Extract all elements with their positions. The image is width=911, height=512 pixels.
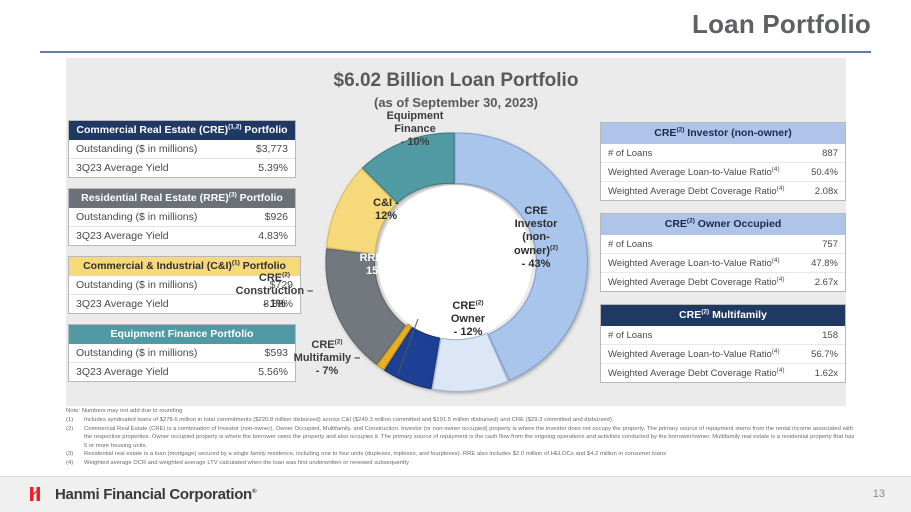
footnote-number: (1) (66, 416, 84, 425)
row-label-text: Weighted Average Loan-to-Value Ratio (608, 167, 772, 178)
page-header: Loan Portfolio (0, 0, 911, 54)
row-label-footnote: (4) (777, 184, 785, 191)
loan-portfolio-donut-chart: Equipment Finance - 10% C&I - 12% RRE(3)… (305, 112, 605, 412)
footnotes: Note: Numbers may not add due to roundin… (66, 407, 856, 467)
cre-investor-table-header: CRE(2) Investor (non-owner) (601, 123, 845, 144)
cre-owner-occupied-table: CRE(2) Owner Occupied # of Loans 757 Wei… (600, 213, 846, 292)
equipment-finance-header-main: Equipment Finance Portfolio (111, 328, 254, 340)
cre-portfolio-table: Commercial Real Estate (CRE)(1,2) Portfo… (68, 120, 296, 178)
row-label: # of Loans (608, 148, 652, 159)
row-label-footnote: (4) (772, 256, 780, 263)
row-label: 3Q23 Average Yield (76, 366, 169, 378)
table-row: Weighted Average Debt Coverage Ratio(4) … (601, 363, 845, 382)
row-label: Weighted Average Debt Coverage Ratio(4) (608, 186, 785, 197)
table-row: 3Q23 Average Yield 5.56% (69, 362, 295, 381)
cre-multifamily-table-header: CRE(2) Multifamily (601, 305, 845, 326)
table-row: Weighted Average Debt Coverage Ratio(4) … (601, 181, 845, 200)
chart-label-cre-construction: CRE(2) Construction – - 1% (212, 272, 337, 312)
table-row: # of Loans 158 (601, 326, 845, 344)
row-label: # of Loans (608, 330, 652, 341)
row-label: 3Q23 Average Yield (76, 230, 169, 242)
table-row: 3Q23 Average Yield 5.39% (69, 158, 295, 177)
row-value: 2.08x (815, 186, 838, 197)
row-label-text: # of Loans (608, 239, 652, 250)
cre-investor-header-tail: Investor (non-owner) (684, 127, 791, 139)
row-value: 47.8% (811, 258, 838, 269)
row-label-footnote: (4) (777, 275, 785, 282)
owner-label-line1: CRE (452, 300, 475, 312)
ci-portfolio-header-main: Commercial & Industrial (C&I) (83, 260, 232, 272)
investor-label-line1: CRE (524, 205, 547, 217)
construction-label-line2: Construction (236, 285, 304, 297)
row-value: 4.83% (258, 230, 288, 242)
row-label-text: Weighted Average Debt Coverage Ratio (608, 277, 777, 288)
row-value: 5.39% (258, 162, 288, 174)
right-metrics-column: CRE(2) Investor (non-owner) # of Loans 8… (600, 122, 846, 395)
footnote-note: Note: Numbers may not add due to roundin… (66, 407, 856, 416)
panel-title: $6.02 Billion Loan Portfolio (66, 70, 846, 92)
investor-label-footnote: (2) (550, 244, 558, 251)
row-label-text: # of Loans (608, 148, 652, 159)
multifamily-label-pct: - 7% (316, 365, 339, 377)
equipment-finance-portfolio-table: Equipment Finance Portfolio Outstanding … (68, 324, 296, 382)
rre-portfolio-header-tail: Portfolio (237, 192, 283, 204)
table-row: Weighted Average Loan-to-Value Ratio(4) … (601, 253, 845, 272)
table-row: Weighted Average Loan-to-Value Ratio(4) … (601, 162, 845, 181)
investor-label-line2: Investor (515, 218, 558, 230)
table-row: # of Loans 757 (601, 235, 845, 253)
row-label: Weighted Average Loan-to-Value Ratio(4) (608, 258, 780, 269)
footnote-item: (2) Commercial Real Estate (CRE) is a co… (66, 425, 856, 451)
row-label-footnote: (4) (772, 347, 780, 354)
row-value: 2.67x (815, 277, 838, 288)
registered-trademark-icon: ® (252, 488, 257, 495)
footnote-item: (4) Weighted average DCR and weighted av… (66, 459, 856, 468)
rre-label-dash: - (391, 252, 395, 264)
table-row: Outstanding ($ in millions) $593 (69, 344, 295, 362)
panel-subtitle: (as of September 30, 2023) (66, 95, 846, 110)
row-value: $3,773 (256, 143, 288, 155)
footnote-item: (1) Includes syndicated loans of $278.6 … (66, 416, 856, 425)
table-row: Outstanding ($ in millions) $3,773 (69, 140, 295, 158)
row-value: $926 (265, 211, 288, 223)
footnote-text: Commercial Real Estate (CRE) is a combin… (84, 425, 856, 451)
cre-owner-header-main: CRE (665, 218, 687, 230)
cre-portfolio-header-main: Commercial Real Estate (CRE) (76, 124, 228, 136)
row-label: Outstanding ($ in millions) (76, 143, 197, 155)
rre-label-line1: RRE (360, 252, 383, 264)
left-metrics-column: Commercial Real Estate (CRE)(1,2) Portfo… (68, 120, 296, 392)
investor-label-pct: - 43% (522, 258, 551, 270)
table-row: Weighted Average Loan-to-Value Ratio(4) … (601, 344, 845, 363)
row-label: Outstanding ($ in millions) (76, 211, 197, 223)
row-label: Weighted Average Loan-to-Value Ratio(4) (608, 167, 780, 178)
cre-investor-header-main: CRE (654, 127, 676, 139)
row-label-text: # of Loans (608, 330, 652, 341)
cre-portfolio-header-tail: Portfolio (242, 124, 288, 136)
footnote-text: Includes syndicated loans of $278.6 mill… (84, 416, 856, 425)
row-label-footnote: (4) (772, 165, 780, 172)
cre-owner-header-tail: Owner Occupied (695, 218, 781, 230)
multifamily-label-footnote: (2) (335, 338, 343, 345)
ci-label-line1: C&I - (373, 197, 399, 209)
row-value: 887 (822, 148, 838, 159)
row-value: 1.62x (815, 368, 838, 379)
page-footer: Hanmi Financial Corporation® 13 (0, 476, 911, 512)
rre-label-footnote: (3) (383, 251, 391, 258)
equipment-finance-label-line2: Finance (394, 123, 436, 135)
footnote-text: Weighted average DCR and weighted averag… (84, 459, 856, 468)
page-number: 13 (873, 488, 885, 500)
chart-label-ci: C&I - 12% (353, 197, 419, 223)
rre-portfolio-header-main: Residential Real Estate (RRE) (81, 192, 229, 204)
equipment-finance-label-pct: - 10% (401, 136, 430, 148)
row-label-text: Weighted Average Debt Coverage Ratio (608, 186, 777, 197)
ci-label-pct: 12% (375, 210, 397, 222)
cre-portfolio-header-footnote: (1,2) (228, 124, 241, 131)
header-divider (40, 51, 871, 53)
ci-portfolio-header-footnote: (1) (232, 260, 240, 267)
equipment-finance-table-header: Equipment Finance Portfolio (69, 325, 295, 344)
row-label: Weighted Average Loan-to-Value Ratio(4) (608, 349, 780, 360)
row-label: Weighted Average Debt Coverage Ratio(4) (608, 368, 785, 379)
table-row: Weighted Average Debt Coverage Ratio(4) … (601, 272, 845, 291)
construction-label-line1: CRE (259, 272, 282, 284)
company-name: Hanmi Financial Corporation® (55, 486, 256, 503)
footnote-number: (4) (66, 459, 84, 468)
owner-label-pct: - 12% (454, 326, 483, 338)
footnote-number: (2) (66, 425, 84, 451)
footnote-number: (3) (66, 450, 84, 459)
cre-multifamily-header-tail: Multifamily (709, 309, 767, 321)
row-label-text: Weighted Average Loan-to-Value Ratio (608, 258, 772, 269)
table-row: Outstanding ($ in millions) $926 (69, 208, 295, 226)
company-logo: Hanmi Financial Corporation® (28, 484, 256, 504)
table-row: # of Loans 887 (601, 144, 845, 162)
rre-portfolio-header-footnote: (3) (229, 192, 237, 199)
owner-label-footnote: (2) (476, 299, 484, 306)
equipment-finance-label-line1: Equipment (387, 110, 444, 122)
chart-label-cre-investor: CRE Investor (non- owner)(2) - 43% (495, 205, 577, 271)
footnote-item: (3) Residential real estate is a loan (m… (66, 450, 856, 459)
cre-multifamily-table: CRE(2) Multifamily # of Loans 158 Weight… (600, 304, 846, 383)
investor-label-line4: owner) (514, 245, 550, 257)
row-label: # of Loans (608, 239, 652, 250)
row-label: 3Q23 Average Yield (76, 162, 169, 174)
rre-portfolio-table: Residential Real Estate (RRE)(3) Portfol… (68, 188, 296, 246)
row-label: Weighted Average Debt Coverage Ratio(4) (608, 277, 785, 288)
row-value: 757 (822, 239, 838, 250)
row-label-footnote: (4) (777, 366, 785, 373)
cre-multifamily-header-main: CRE (679, 309, 701, 321)
company-name-text: Hanmi Financial Corporation (55, 486, 252, 503)
row-label-text: Weighted Average Loan-to-Value Ratio (608, 349, 772, 360)
footnote-text: Residential real estate is a loan (mortg… (84, 450, 856, 459)
page-title: Loan Portfolio (692, 9, 871, 40)
table-row: 3Q23 Average Yield 4.83% (69, 226, 295, 245)
cre-owner-header-footnote: (2) (687, 218, 695, 225)
row-label: 3Q23 Average Yield (76, 298, 169, 310)
chart-label-cre-multifamily: CRE(2) Multifamily – - 7% (267, 339, 387, 379)
multifamily-label-line2: Multifamily (294, 352, 351, 364)
row-value: 56.7% (811, 349, 838, 360)
row-value: 158 (822, 330, 838, 341)
row-label: Outstanding ($ in millions) (76, 279, 197, 291)
cre-owner-occupied-table-header: CRE(2) Owner Occupied (601, 214, 845, 235)
rre-portfolio-table-header: Residential Real Estate (RRE)(3) Portfol… (69, 189, 295, 208)
chart-label-cre-owner: CRE(2) Owner - 12% (430, 300, 506, 340)
construction-label-footnote: (2) (282, 271, 290, 278)
ci-portfolio-header-tail: Portfolio (240, 260, 286, 272)
construction-label-pct: - 1% (263, 298, 286, 310)
owner-label-line2: Owner (451, 313, 485, 325)
rre-label-pct: 15% (366, 265, 388, 277)
cre-investor-table: CRE(2) Investor (non-owner) # of Loans 8… (600, 122, 846, 201)
chart-label-rre: RRE(3)- 15% (337, 252, 417, 278)
investor-label-line3: (non- (522, 231, 549, 243)
row-value: 50.4% (811, 167, 838, 178)
hanmi-logo-icon (28, 484, 48, 504)
cre-portfolio-table-header: Commercial Real Estate (CRE)(1,2) Portfo… (69, 121, 295, 140)
row-label-text: Weighted Average Debt Coverage Ratio (608, 368, 777, 379)
chart-label-equipment-finance: Equipment Finance - 10% (350, 110, 480, 150)
multifamily-label-line1: CRE (311, 339, 334, 351)
hanmi-mark-svg (28, 484, 48, 504)
cre-multifamily-header-footnote: (2) (701, 309, 709, 316)
row-label: Outstanding ($ in millions) (76, 347, 197, 359)
